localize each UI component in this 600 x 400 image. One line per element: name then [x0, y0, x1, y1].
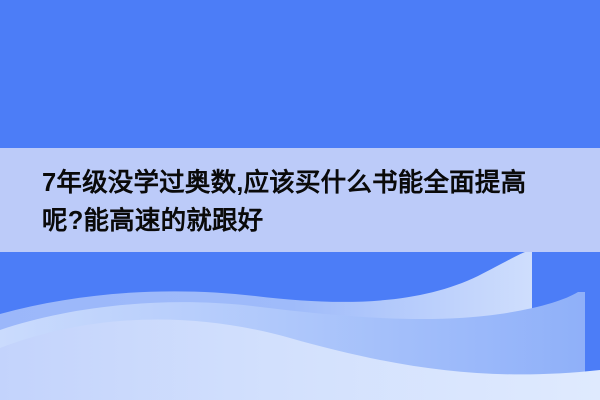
wave-svg	[0, 252, 600, 400]
banner-top-blue-field	[0, 0, 600, 148]
headline-band: 7年级没学过奥数,应该买什么书能全面提高 呢?能高速的就跟好	[0, 148, 600, 252]
page-title: 7年级没学过奥数,应该买什么书能全面提高 呢?能高速的就跟好	[42, 164, 560, 240]
banner-image: 7年级没学过奥数,应该买什么书能全面提高 呢?能高速的就跟好	[0, 0, 600, 400]
wave-decoration	[0, 252, 600, 400]
